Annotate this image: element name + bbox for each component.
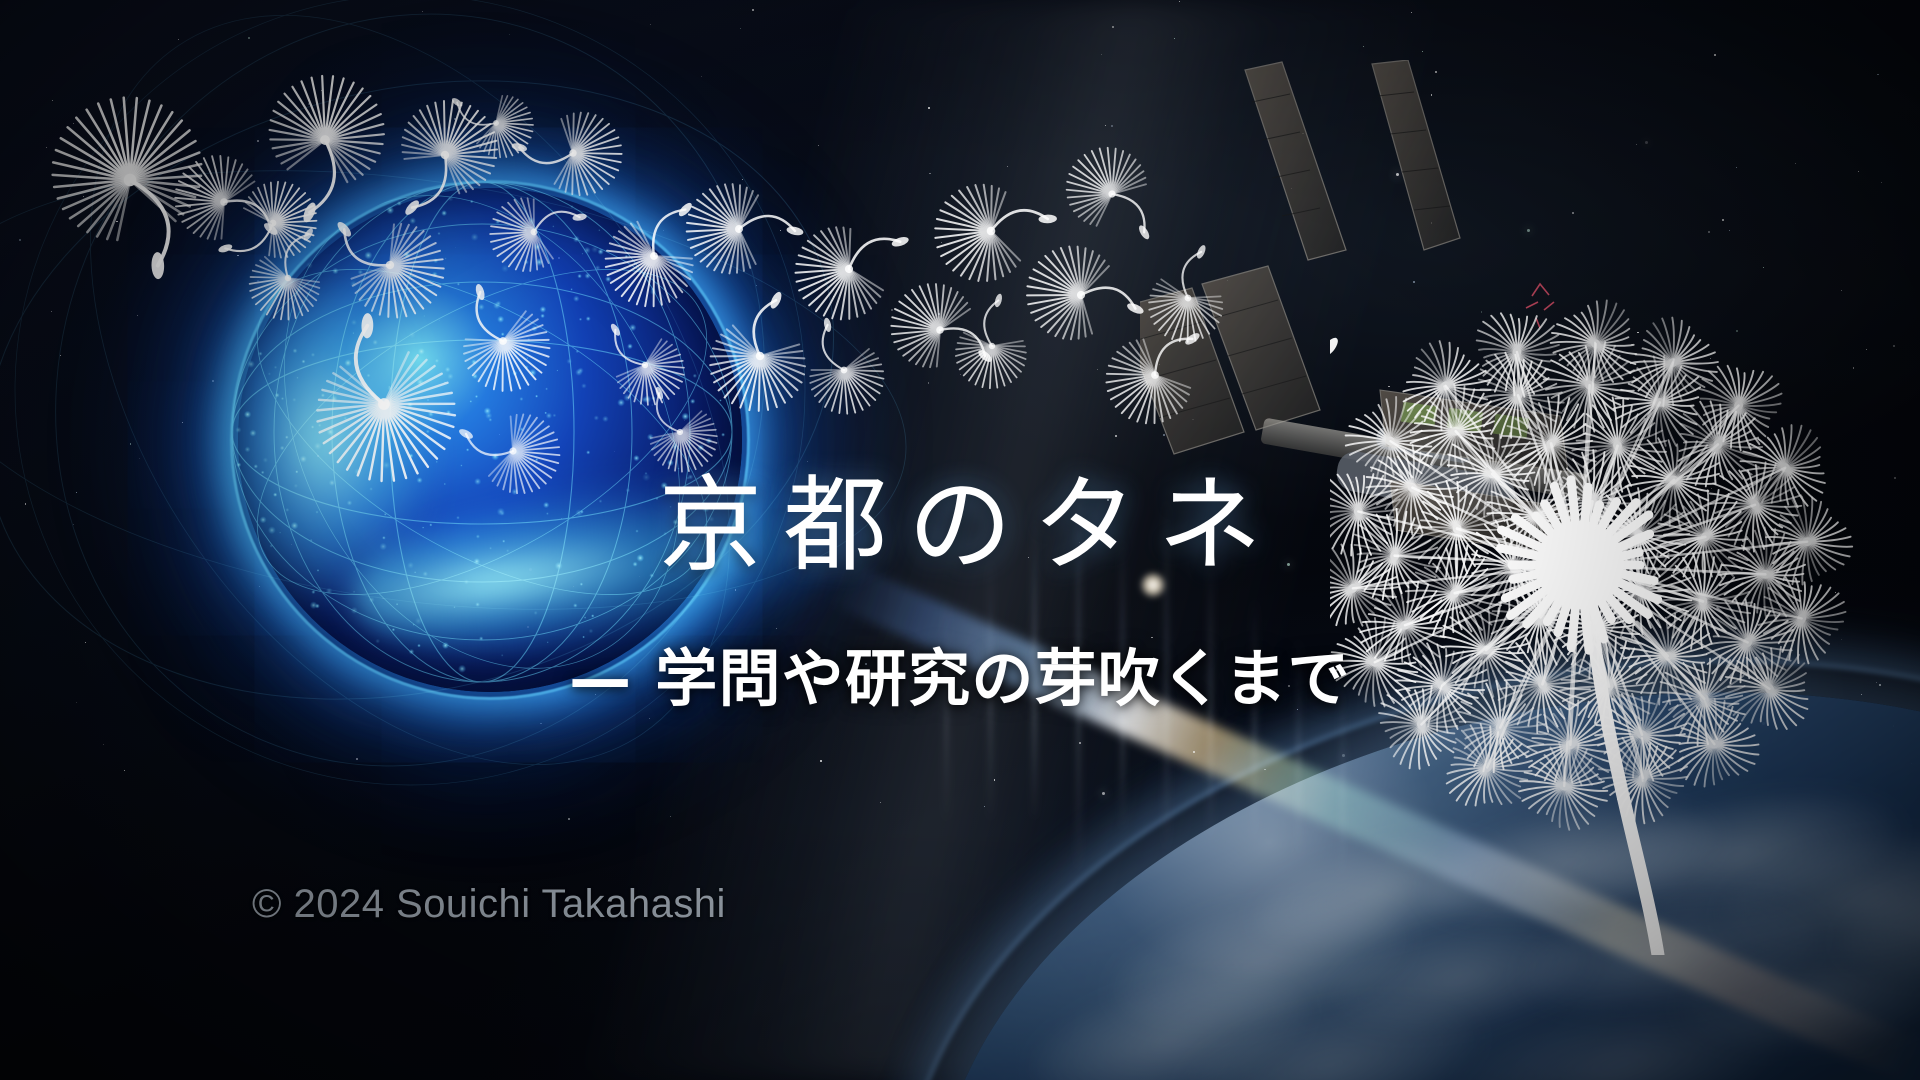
star xyxy=(1795,163,1796,164)
star xyxy=(1714,54,1716,56)
page-title: 京都のタネ xyxy=(0,472,1920,578)
title-card-stage: 京都のタネ — 学問や研究の芽吹くまで © 2024 Souichi Takah… xyxy=(0,0,1920,1080)
copyright-text: © 2024 Souichi Takahashi xyxy=(252,882,726,927)
star xyxy=(1363,46,1364,47)
star xyxy=(1115,435,1117,437)
star xyxy=(1179,1,1180,2)
star xyxy=(1174,38,1175,39)
star xyxy=(1105,125,1106,126)
star xyxy=(1111,125,1113,127)
star xyxy=(994,779,995,780)
star xyxy=(1877,74,1878,75)
star xyxy=(1151,637,1152,638)
star xyxy=(1422,51,1423,52)
star xyxy=(1411,12,1412,13)
star xyxy=(1112,26,1114,28)
seed-20 xyxy=(1009,223,1152,366)
star xyxy=(1079,742,1081,744)
star xyxy=(1102,792,1105,795)
star xyxy=(1097,369,1098,370)
star xyxy=(1858,171,1859,172)
star xyxy=(1007,166,1008,167)
star xyxy=(1101,54,1102,55)
page-subtitle: — 学問や研究の芽吹くまで xyxy=(0,645,1920,713)
